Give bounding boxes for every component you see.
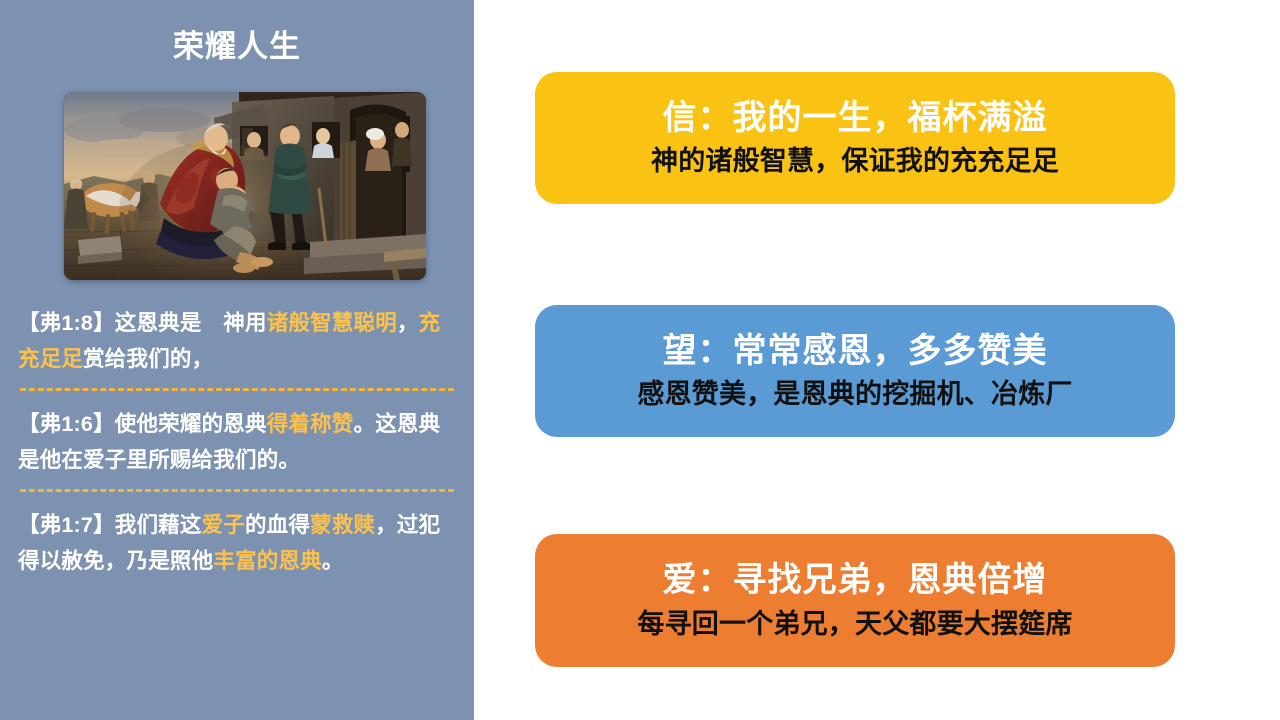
left-panel: 荣耀人生	[0, 0, 474, 720]
verse-seg: 【弗1:7】我们藉这	[18, 513, 202, 537]
verse-seg-highlight: 爱子	[202, 513, 245, 537]
painting-svg	[64, 92, 426, 280]
prodigal-son-painting	[64, 92, 426, 280]
card-hope-heading: 望：常常感恩，多多赞美	[663, 330, 1048, 373]
painting-artwork	[64, 92, 426, 280]
verse-eph-1-7: 【弗1:7】我们藉这爱子的血得蒙救赎，过犯得以赦免，乃是照他丰富的恩典。	[18, 499, 456, 579]
verse-seg: 的血得	[245, 513, 310, 537]
verse-seg-highlight: 得着称赞	[267, 412, 354, 436]
card-hope-subtitle: 感恩赞美，是恩典的挖掘机、冶炼厂	[637, 377, 1072, 412]
verse-seg: 【弗1:6】使他荣耀的恩典	[18, 412, 267, 436]
verse-seg: ，	[397, 311, 419, 335]
card-love-subtitle: 每寻回一个弟兄，天父都要大摆筵席	[637, 607, 1072, 642]
card-love[interactable]: 爱：寻找兄弟，恩典倍增 每寻回一个弟兄，天父都要大摆筵席	[535, 534, 1175, 667]
page-title: 荣耀人生	[0, 28, 474, 65]
scripture-list: 【弗1:8】这恩典是 神用诸般智慧聪明，充充足足赏给我们的， 【弗1:6】使他荣…	[18, 305, 456, 579]
dashed-divider-1	[20, 388, 454, 391]
card-hope[interactable]: 望：常常感恩，多多赞美 感恩赞美，是恩典的挖掘机、冶炼厂	[535, 305, 1175, 437]
dashed-divider-2	[20, 489, 454, 492]
verse-eph-1-8: 【弗1:8】这恩典是 神用诸般智慧聪明，充充足足赏给我们的，	[18, 305, 456, 379]
verse-seg-highlight: 丰富的恩典	[213, 549, 322, 573]
verse-seg: 【弗1:8】这恩典是 神用	[18, 311, 267, 335]
slide-canvas: 荣耀人生	[0, 0, 1280, 720]
card-love-heading: 爱：寻找兄弟，恩典倍增	[663, 559, 1048, 602]
card-faith[interactable]: 信：我的一生，福杯满溢 神的诸般智慧，保证我的充充足足	[535, 72, 1175, 204]
verse-seg-highlight: 诸般智慧聪明	[267, 311, 397, 335]
verse-seg-highlight: 蒙救赎	[310, 513, 375, 537]
verse-seg: 赏给我们的，	[83, 347, 213, 371]
card-faith-subtitle: 神的诸般智慧，保证我的充充足足	[651, 144, 1059, 179]
verse-seg: 。	[322, 549, 344, 573]
verse-eph-1-6: 【弗1:6】使他荣耀的恩典得着称赞。这恩典是他在爱子里所赐给我们的。	[18, 398, 456, 480]
card-faith-heading: 信：我的一生，福杯满溢	[663, 97, 1048, 140]
